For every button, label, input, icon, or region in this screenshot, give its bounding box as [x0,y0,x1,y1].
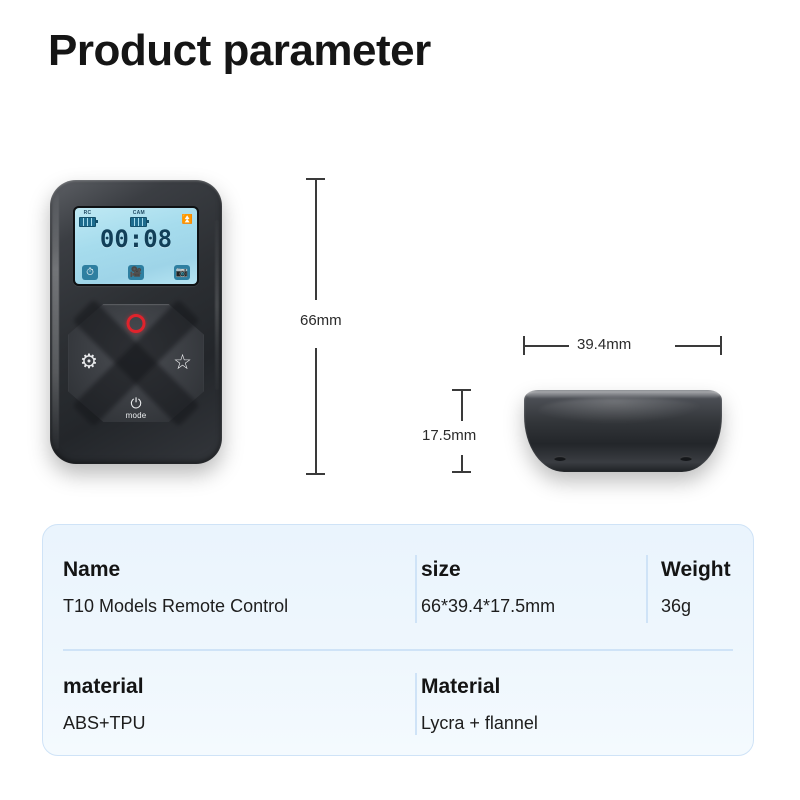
height-dim-label: 66mm [300,312,342,329]
spec-key: size [421,558,555,582]
mode-label: mode [126,411,147,420]
width-dim-cap-right [720,336,722,355]
depth-dim-line-lower [461,455,463,472]
spec-key: Weight [661,558,731,582]
spec-cell-name: Name T10 Models Remote Control [63,558,288,617]
spec-value: Lycra + flannel [421,713,538,734]
width-dim-label: 39.4mm [577,336,631,353]
height-dim-line-lower [315,348,317,474]
lcd-bezel: RC CAM ⏫ 00:08 ⏱ 🎥 📷 [73,206,199,286]
width-dim-line-right [675,345,721,347]
spec-cell-material-strap: Material Lycra + flannel [421,675,538,734]
height-dim-line-upper [315,178,317,300]
bluetooth-icon: ⏫ [182,214,193,225]
depth-dim-label: 17.5mm [422,427,476,444]
remote-front-view: RC CAM ⏫ 00:08 ⏱ 🎥 📷 ⚙ ☆ ⏻ [50,180,222,464]
spec-value: 36g [661,596,731,617]
power-icon: ⏻ [126,397,147,409]
height-dim-cap-bottom [306,473,325,475]
lcd-rc-label: RC [84,211,92,216]
spec-value: ABS+TPU [63,713,146,734]
side-port-icon [680,456,692,461]
spec-key: material [63,675,146,699]
depth-dim-cap-bottom [452,471,471,473]
record-button[interactable] [127,314,146,333]
width-dim-line-left [523,345,569,347]
depth-dim-line-upper [461,389,463,421]
side-gloss-highlight [538,398,708,424]
gear-icon[interactable]: ⚙ [80,352,98,372]
remote-side-view [524,390,722,472]
spec-key: Name [63,558,288,582]
spec-col-divider [415,555,417,623]
directional-pad: ⚙ ☆ ⏻ mode [68,304,204,422]
mode-button[interactable]: ⏻ mode [126,397,147,420]
lcd-timer: 00:08 [75,225,197,253]
timer-icon: ⏱ [82,265,98,280]
spec-value: 66*39.4*17.5mm [421,596,555,617]
lcd-mode-icons: ⏱ 🎥 📷 [82,265,190,280]
lcd-cam-label: CAM [133,211,145,216]
spec-key: Material [421,675,538,699]
spec-row-divider [63,649,733,651]
spec-col-divider [415,673,417,735]
video-camera-icon: 🎥 [128,265,144,280]
photo-camera-icon: 📷 [174,265,190,280]
side-top-edge [526,391,720,398]
lcd-screen: RC CAM ⏫ 00:08 ⏱ 🎥 📷 [75,208,197,284]
spec-cell-size: size 66*39.4*17.5mm [421,558,555,617]
side-port-icon [554,456,566,461]
spec-cell-material-body: material ABS+TPU [63,675,146,734]
star-icon[interactable]: ☆ [173,352,192,373]
page-title: Product parameter [48,26,431,76]
spec-value: T10 Models Remote Control [63,596,288,617]
spec-col-divider [646,555,648,623]
spec-cell-weight: Weight 36g [661,558,731,617]
spec-table: Name T10 Models Remote Control size 66*3… [42,524,754,756]
